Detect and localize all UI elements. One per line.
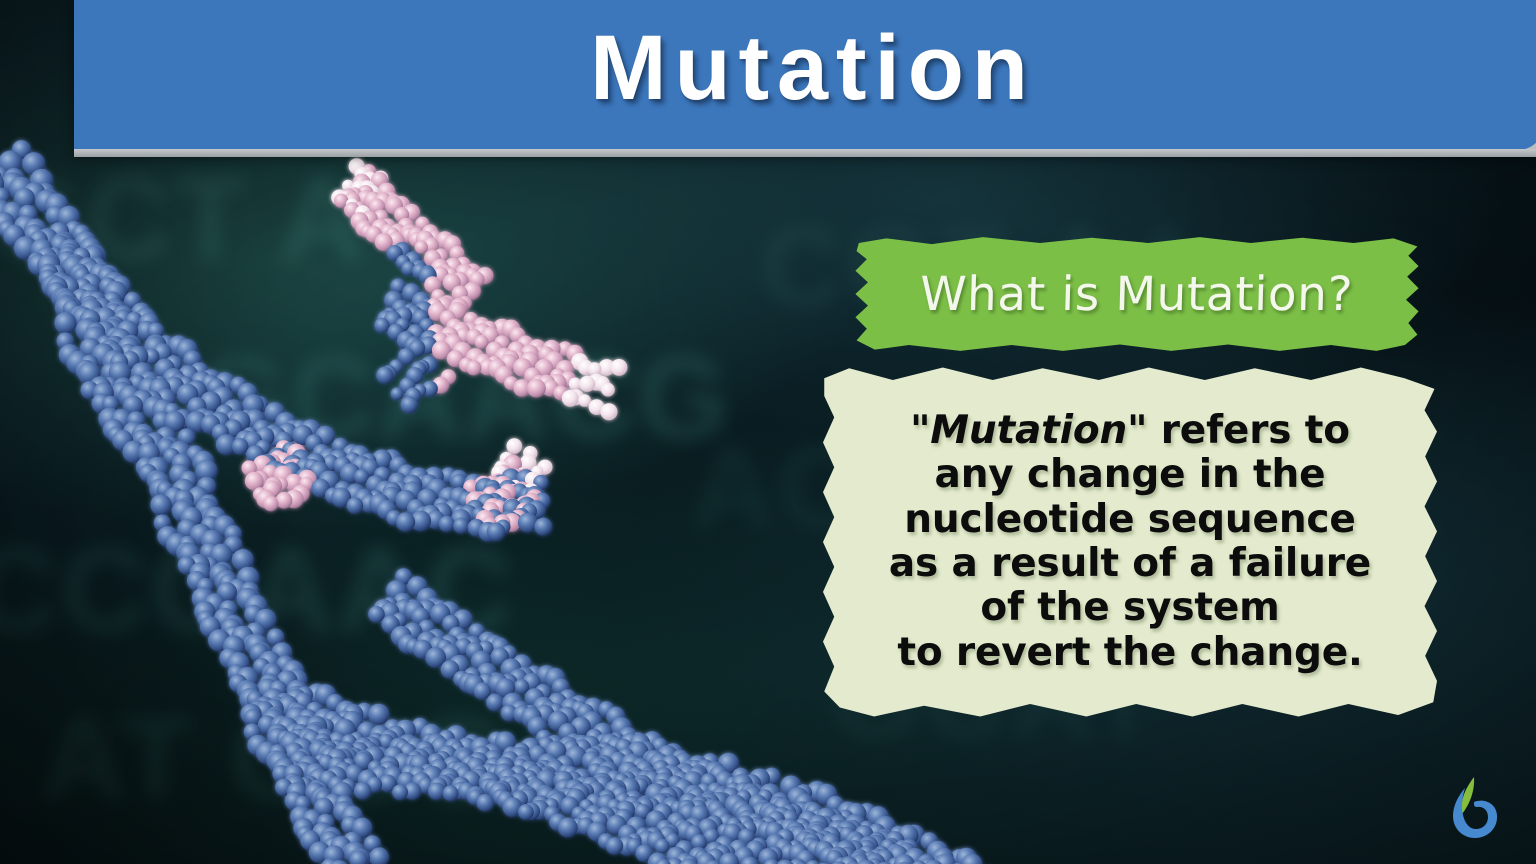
definition-line: of the system	[980, 585, 1279, 630]
definition-term: Mutation	[930, 408, 1127, 453]
question-banner: What is Mutation?	[852, 236, 1422, 352]
poster-canvas: GCT A AGCAACG CCGAAC AT GCG CGT AA ACGT …	[0, 0, 1536, 864]
definition-text: "Mutation" refers to any change in the n…	[818, 409, 1442, 676]
question-banner-label: What is Mutation?	[920, 271, 1354, 318]
definition-line: as a result of a failure	[889, 541, 1371, 586]
definition-line: any change in the	[935, 452, 1326, 497]
definition-line: to revert the change.	[897, 630, 1362, 675]
biology-online-logo[interactable]	[1444, 774, 1504, 842]
quote-close: "	[1127, 408, 1147, 453]
quote-open: "	[910, 408, 930, 453]
title-banner: Mutation	[74, 0, 1536, 150]
definition-line: nucleotide sequence	[904, 497, 1355, 542]
page-title: Mutation	[582, 22, 1036, 114]
definition-card: "Mutation" refers to any change in the n…	[818, 364, 1442, 720]
definition-line: refers to	[1147, 408, 1350, 453]
